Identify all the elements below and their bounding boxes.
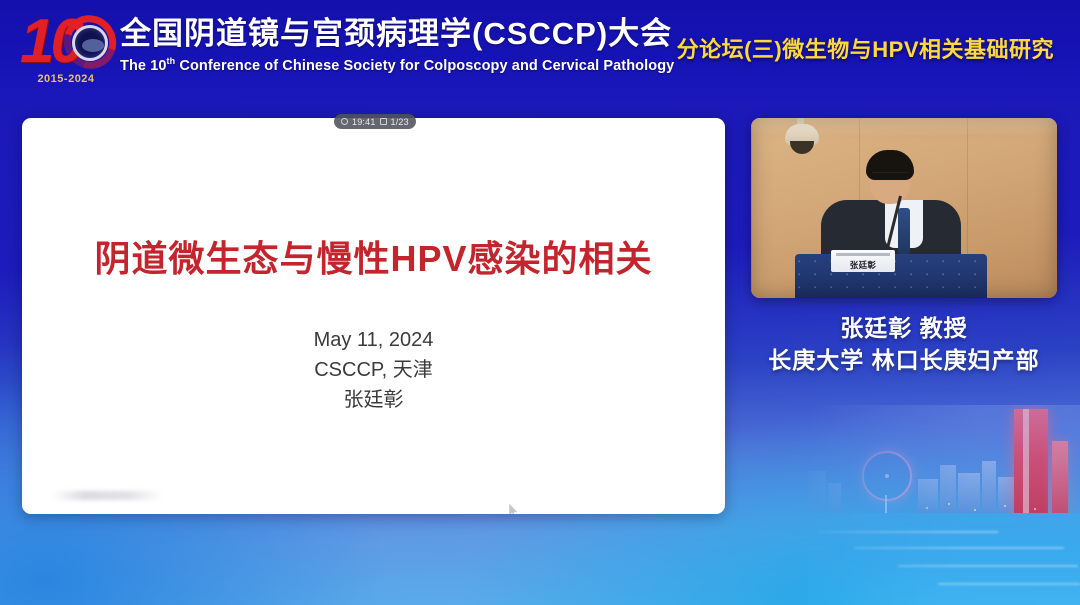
live-speaker-video[interactable]: 张廷彰 [751,118,1057,298]
slide-subtitle-venue: CSCCP, 天津 [22,355,725,385]
clock-icon [341,118,348,125]
conference-title-cn: 全国阴道镜与宫颈病理学(CSCCP)大会 [120,16,674,52]
city-haze-overlay [808,405,1080,605]
speaker-name-title: 张廷彰 教授 [737,312,1071,344]
logo-globe-icon [72,25,108,61]
playback-status-pill[interactable]: 19:41 1/23 [334,114,416,129]
en-title-ordinal: th [167,56,176,66]
speaker-nameplate: 张廷彰 [831,250,895,272]
slide-subtitle-date: May 11, 2024 [22,325,725,355]
slide-artifact [52,491,162,500]
speaker-caption: 张廷彰 教授 长庚大学 林口长庚妇产部 [737,312,1071,376]
banner-titles: 全国阴道镜与宫颈病理学(CSCCP)大会 The 10th Conference… [120,16,674,74]
tianjin-skyline-graphic [808,405,1080,605]
broadcast-stage: 10 2015-2024 全国阴道镜与宫颈病理学(CSCCP)大会 The 10… [0,0,1080,605]
csccp-anniversary-logo-icon: 10 2015-2024 [14,9,118,93]
page-counter: 1/23 [391,117,409,127]
slide-subtitle-block: May 11, 2024 CSCCP, 天津 张廷彰 [22,325,725,415]
page-icon [380,118,387,125]
slide-subtitle-author: 张廷彰 [22,385,725,415]
mouse-pointer-icon [508,503,519,514]
speaker-affiliation: 长庚大学 林口长庚妇产部 [737,344,1071,376]
conference-title-en: The 10th Conference of Chinese Society f… [120,56,674,74]
conference-banner: 10 2015-2024 全国阴道镜与宫颈病理学(CSCCP)大会 The 10… [0,0,1080,100]
en-title-pre: The 10 [120,58,167,74]
elapsed-time: 19:41 [352,117,376,127]
logo-years-text: 2015-2024 [14,73,118,85]
speaker-glasses-icon [872,172,909,180]
session-track-title: 分论坛(三)微生物与HPV相关基础研究 [677,32,1054,64]
slide-title: 阴道微生态与慢性HPV感染的相关 [22,230,725,282]
presentation-slide[interactable]: 阴道微生态与慢性HPV感染的相关 May 11, 2024 CSCCP, 天津 … [22,118,725,514]
speaker-tie [898,208,910,254]
en-title-post: Conference of Chinese Society for Colpos… [175,58,674,74]
nameplate-text: 张廷彰 [850,259,876,271]
